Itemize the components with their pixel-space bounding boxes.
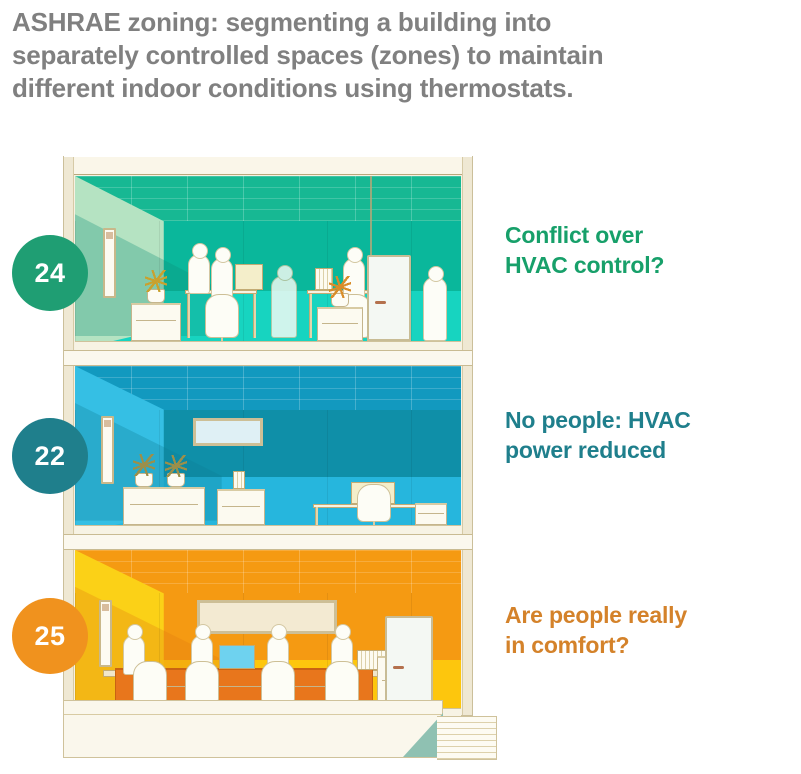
office-chair-icon [185, 661, 219, 705]
monitor-icon [219, 645, 255, 669]
zone-badge-bottom-value: 25 [34, 621, 65, 652]
person-silhouette-icon [188, 254, 210, 294]
room-middle [75, 366, 461, 534]
cabinet-icon [131, 303, 181, 341]
framed-picture-icon [193, 418, 263, 446]
framed-picture-icon [197, 600, 337, 634]
zone-floor-top [75, 176, 461, 350]
title-line-3: different indoor conditions using thermo… [12, 72, 792, 105]
window-icon [103, 228, 116, 298]
title-line-1: ASHRAE zoning: segmenting a building int… [12, 6, 792, 39]
books-icon [233, 471, 245, 489]
person-silhouette-icon [423, 277, 447, 341]
window-icon [99, 600, 112, 667]
building-shell [63, 156, 473, 716]
callout-top-line-1: Conflict over [505, 220, 790, 250]
room-bottom [75, 550, 461, 717]
page-title: ASHRAE zoning: segmenting a building int… [12, 6, 792, 105]
cabinet-icon [123, 487, 205, 525]
room-top [75, 176, 461, 350]
cabinet-icon [317, 307, 363, 341]
window-icon [101, 416, 114, 483]
plant-leaf-icon [329, 276, 351, 298]
cabinet-icon [217, 489, 265, 525]
callout-top: Conflict over HVAC control? [505, 220, 790, 281]
callout-middle-line-2: power reduced [505, 435, 790, 465]
zone-badge-top-value: 24 [34, 258, 65, 289]
zone-floor-bottom [75, 550, 461, 717]
door-icon [367, 255, 411, 341]
callout-top-line-2: HVAC control? [505, 250, 790, 280]
callout-bottom: Are people really in comfort? [505, 600, 790, 661]
person-silhouette-icon [211, 258, 233, 298]
desk-leg [187, 294, 190, 338]
desk-leg [315, 507, 318, 525]
title-line-2: separately controlled spaces (zones) to … [12, 39, 792, 72]
monitor-icon [235, 264, 263, 290]
floor-line-top [75, 341, 461, 350]
office-chair-icon [261, 661, 295, 705]
plant-leaf-icon [165, 455, 187, 477]
office-chair-icon [357, 484, 391, 522]
callout-middle: No people: HVAC power reduced [505, 405, 790, 466]
person-silhouette-icon [271, 276, 297, 338]
callout-bottom-line-2: in comfort? [505, 630, 790, 660]
office-chair-icon [325, 661, 359, 705]
floor-slab-2 [64, 534, 472, 550]
zone-badge-middle-value: 22 [34, 441, 65, 472]
zone-floor-middle [75, 366, 461, 534]
entrance-steps-icon [437, 716, 497, 760]
office-chair-icon [133, 661, 167, 705]
desk-leg [309, 294, 312, 338]
roof-slab [64, 157, 472, 175]
plant-leaf-icon [133, 454, 155, 476]
callout-middle-line-1: No people: HVAC [505, 405, 790, 435]
zone-badge-bottom[interactable]: 25 [12, 598, 88, 674]
door-icon [385, 616, 433, 708]
building-illustration: 24 22 25 Conflict over HVAC control? No … [0, 140, 801, 774]
floor-line-middle [75, 525, 461, 534]
building-right-facade [462, 157, 472, 715]
desk-leg [253, 294, 256, 338]
building-plinth [63, 700, 443, 758]
zone-badge-middle[interactable]: 22 [12, 418, 88, 494]
callout-bottom-line-1: Are people really [505, 600, 790, 630]
office-chair-icon [205, 294, 239, 338]
floor-slab-1 [64, 350, 472, 366]
plant-leaf-icon [145, 270, 167, 292]
cabinet-icon [415, 503, 447, 525]
zone-badge-top[interactable]: 24 [12, 235, 88, 311]
